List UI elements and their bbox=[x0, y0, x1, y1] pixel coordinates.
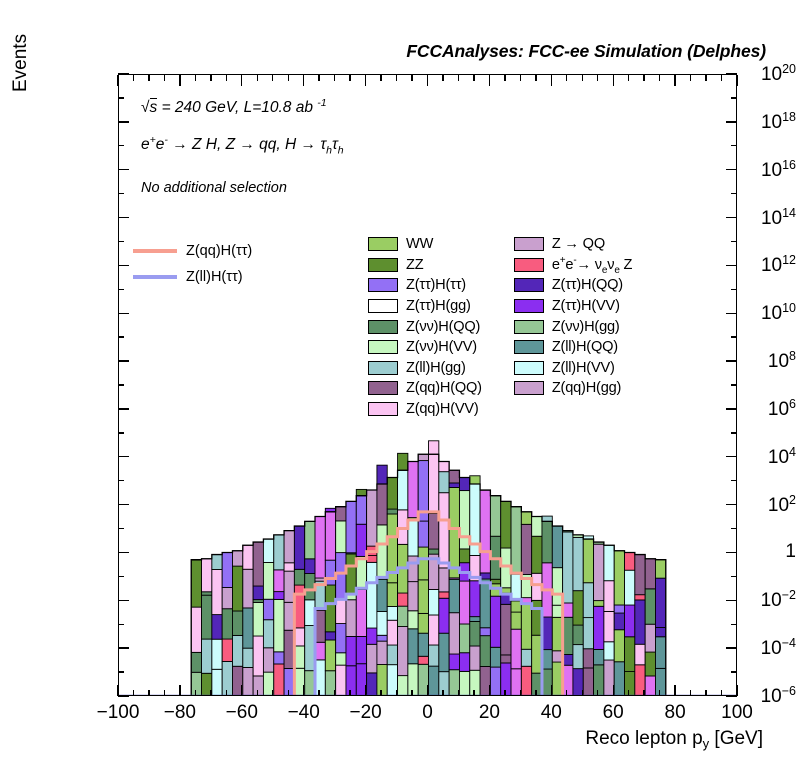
histogram-bin-segment bbox=[232, 611, 242, 635]
x-axis-title-unit: [GeV] bbox=[709, 728, 763, 749]
histogram-bin-segment bbox=[480, 573, 490, 579]
histogram-bin-segment bbox=[635, 595, 645, 600]
y-tick-label: 10−4 bbox=[686, 636, 796, 660]
histogram-bin-segment bbox=[191, 652, 201, 672]
main-legend: WWZZZ(ττ)H(ττ)Z(ττ)H(gg)Z(νν)H(QQ)Z(νν)H… bbox=[368, 234, 632, 419]
histogram-bin-segment bbox=[253, 602, 263, 636]
legend-label: Z(ττ)H(gg) bbox=[406, 298, 471, 314]
x-major-tick bbox=[241, 685, 242, 696]
histogram-bin-segment bbox=[429, 549, 439, 554]
histogram-bin-segment bbox=[377, 641, 387, 664]
y-major-tick bbox=[118, 121, 129, 122]
x-minor-tick bbox=[473, 690, 474, 696]
histogram-bin-segment bbox=[356, 590, 366, 637]
histogram-bin-segment bbox=[222, 661, 232, 696]
legend-right-row: Z(ll)H(QQ) bbox=[514, 337, 632, 358]
x-axis-title: Reco lepton py [GeV] bbox=[585, 728, 763, 751]
plot-header-title: FCCAnalyses: FCC-ee Simulation (Delphes) bbox=[406, 41, 766, 62]
legend-swatch bbox=[368, 320, 398, 334]
histogram-bin-segment bbox=[449, 654, 459, 670]
histogram-bin-segment bbox=[284, 602, 294, 630]
histogram-bin-segment bbox=[614, 630, 624, 662]
histogram-bin-segment bbox=[294, 569, 304, 585]
histogram-bin-segment bbox=[336, 653, 346, 665]
legend-label: Z(ττ)H(ττ) bbox=[406, 277, 466, 293]
x-minor-tick bbox=[643, 75, 644, 81]
histogram-bin-segment bbox=[429, 454, 439, 513]
histogram-bin-segment bbox=[356, 489, 366, 495]
x-minor-tick bbox=[133, 690, 134, 696]
histogram-bin-segment bbox=[377, 635, 387, 641]
histogram-bin-segment bbox=[521, 604, 531, 649]
x-minor-tick bbox=[164, 75, 165, 81]
y-tick-label: 1014 bbox=[686, 205, 796, 229]
histogram-bin-segment bbox=[429, 645, 439, 666]
y-minor-tick bbox=[731, 671, 737, 672]
histogram-bin-segment bbox=[243, 667, 253, 696]
x-minor-tick bbox=[195, 75, 196, 81]
y-tick-label: 102 bbox=[686, 492, 796, 516]
x-minor-tick bbox=[318, 690, 319, 696]
x-minor-tick bbox=[396, 690, 397, 696]
y-minor-tick bbox=[731, 241, 737, 242]
legend-swatch bbox=[514, 258, 544, 272]
legend-left-row: Z(ττ)H(gg) bbox=[368, 296, 482, 317]
histogram-bin-segment bbox=[645, 559, 655, 589]
histogram-bin-segment bbox=[212, 639, 222, 669]
x-minor-tick bbox=[582, 690, 583, 696]
histogram-bin-segment bbox=[459, 624, 469, 653]
y-minor-tick bbox=[118, 193, 124, 194]
histogram-bin-segment bbox=[418, 454, 428, 460]
x-minor-tick bbox=[566, 690, 567, 696]
x-major-tick bbox=[117, 75, 118, 86]
histogram-bin-segment bbox=[336, 600, 346, 624]
histogram-bin-segment bbox=[284, 630, 294, 668]
x-major-tick bbox=[427, 75, 428, 86]
histogram-bin-segment bbox=[367, 556, 377, 563]
y-minor-tick bbox=[118, 145, 124, 146]
x-major-tick bbox=[179, 75, 180, 86]
histogram-bin-segment bbox=[325, 512, 335, 560]
histogram-bin-segment bbox=[614, 605, 624, 613]
histogram-bin-segment bbox=[449, 487, 459, 577]
histogram-bin-segment bbox=[635, 644, 645, 665]
histogram-bin-segment bbox=[439, 672, 449, 696]
histogram-bin-segment bbox=[449, 470, 459, 483]
histogram-bin-segment bbox=[253, 586, 263, 600]
x-minor-tick bbox=[164, 690, 165, 696]
histogram-bin-segment bbox=[635, 555, 645, 595]
histogram-bin-segment bbox=[459, 671, 469, 696]
histogram-bin-segment bbox=[625, 605, 635, 637]
x-tick-label: 80 bbox=[665, 702, 686, 724]
legend-left-row: Z(νν)H(VV) bbox=[368, 337, 482, 358]
histogram-bin-segment bbox=[356, 636, 366, 663]
x-minor-tick bbox=[288, 690, 289, 696]
histogram-bin-segment bbox=[377, 665, 387, 696]
histogram-bin-segment bbox=[325, 632, 335, 640]
histogram-bin-segment bbox=[511, 612, 521, 629]
histogram-bin-segment bbox=[315, 610, 325, 642]
legend-swatch bbox=[514, 320, 544, 334]
histogram-bin-segment bbox=[501, 655, 511, 663]
legend-right-row: Z(ττ)H(VV) bbox=[514, 296, 632, 317]
histogram-bin-segment bbox=[346, 501, 356, 552]
y-major-tick bbox=[118, 552, 129, 553]
histogram-bin-segment bbox=[305, 574, 315, 600]
y-minor-tick bbox=[731, 528, 737, 529]
legend-label: ZZ bbox=[406, 257, 423, 273]
legend-label: WW bbox=[406, 236, 433, 252]
x-minor-tick bbox=[458, 75, 459, 81]
histogram-bin-segment bbox=[429, 615, 439, 645]
histogram-bin-segment bbox=[263, 599, 273, 619]
histogram-bin-segment bbox=[202, 592, 212, 595]
x-minor-tick bbox=[442, 75, 443, 81]
x-minor-tick bbox=[566, 75, 567, 81]
y-tick-label: 1010 bbox=[686, 301, 796, 325]
legend-column-right: Z → QQe+e-→ νeνe ZZ(ττ)H(QQ)Z(ττ)H(VV)Z(… bbox=[514, 234, 632, 419]
histogram-bin-segment bbox=[480, 628, 490, 636]
y-minor-tick bbox=[731, 432, 737, 433]
y-tick-label: 1020 bbox=[686, 62, 796, 86]
y-tick-label: 1018 bbox=[686, 110, 796, 134]
histogram-bin-segment bbox=[222, 609, 232, 639]
histogram-bin-segment bbox=[511, 629, 521, 669]
histogram-bin-segment bbox=[232, 551, 242, 566]
signal-legend-row: Z(qq)H(ττ) bbox=[133, 238, 252, 264]
x-tick-label: 20 bbox=[479, 702, 500, 724]
histogram-bin-segment bbox=[480, 490, 490, 573]
legend-label: Z(ττ)H(VV) bbox=[552, 298, 620, 314]
x-minor-tick bbox=[349, 690, 350, 696]
histogram-bin-segment bbox=[655, 560, 665, 578]
legend-label: Z(ττ)H(QQ) bbox=[552, 277, 623, 293]
histogram-bin-segment bbox=[459, 581, 469, 624]
x-tick-label: 100 bbox=[721, 702, 753, 724]
annotation-energy-lumi: √s = 240 GeV, L=10.8 ab -1 bbox=[141, 97, 327, 117]
histogram-bin-segment bbox=[429, 589, 439, 614]
histogram-bin-segment bbox=[284, 563, 294, 571]
signal-legend-row: Z(ll)H(ττ) bbox=[133, 264, 252, 290]
histogram-bin-segment bbox=[490, 584, 500, 596]
histogram-bin-segment bbox=[305, 559, 315, 574]
x-minor-tick bbox=[628, 75, 629, 81]
histogram-bin-segment bbox=[625, 552, 635, 570]
histogram-bin-segment bbox=[294, 646, 304, 668]
histogram-bin-segment bbox=[253, 542, 263, 586]
histogram-bin-segment bbox=[274, 664, 284, 696]
x-tick-label: −60 bbox=[226, 702, 258, 724]
y-major-tick bbox=[118, 647, 129, 648]
histogram-bin-segment bbox=[604, 642, 614, 660]
histogram-bin-segment bbox=[645, 589, 655, 624]
histogram-bin-segment bbox=[202, 559, 212, 592]
histogram-bin-segment bbox=[655, 627, 665, 636]
x-minor-tick bbox=[272, 75, 273, 81]
histogram-bin-segment bbox=[191, 672, 201, 696]
histogram-bin-segment bbox=[655, 668, 665, 696]
x-tick-label: −20 bbox=[349, 702, 381, 724]
histogram-bin-segment bbox=[542, 521, 552, 562]
x-minor-tick bbox=[210, 690, 211, 696]
annotation-process: e+e- → Z H, Z → qq, H → τhτh bbox=[141, 134, 344, 156]
histogram-bin-segment bbox=[532, 517, 542, 537]
y-major-tick bbox=[118, 217, 129, 218]
histogram-bin-segment bbox=[263, 562, 273, 599]
legend-left-row: WW bbox=[368, 234, 482, 255]
histogram-bin-segment bbox=[521, 666, 531, 696]
y-minor-tick bbox=[118, 480, 124, 481]
legend-left-row: Z(νν)H(QQ) bbox=[368, 316, 482, 337]
legend-swatch bbox=[368, 361, 398, 375]
x-minor-tick bbox=[628, 690, 629, 696]
histogram-bin-segment bbox=[594, 544, 604, 600]
x-minor-tick bbox=[334, 75, 335, 81]
histogram-bin-segment bbox=[212, 669, 222, 696]
legend-right-row: Z(ll)H(VV) bbox=[514, 358, 632, 379]
signal-legend-line bbox=[133, 275, 177, 278]
histogram-bin-segment bbox=[274, 570, 284, 592]
x-tick-label: 40 bbox=[541, 702, 562, 724]
histogram-bin-segment bbox=[243, 545, 253, 569]
x-minor-tick bbox=[210, 75, 211, 81]
histogram-bin-segment bbox=[429, 666, 439, 696]
histogram-bin-segment bbox=[532, 536, 542, 573]
histogram-bin-segment bbox=[305, 671, 315, 696]
histogram-bin-segment bbox=[521, 649, 531, 666]
histogram-bin-segment bbox=[398, 676, 408, 696]
histogram-bin-segment bbox=[408, 461, 418, 517]
histogram-bin-segment bbox=[274, 592, 284, 600]
x-major-tick bbox=[489, 75, 490, 86]
histogram-bin-segment bbox=[367, 673, 377, 696]
histogram-bin-segment bbox=[594, 601, 604, 607]
histogram-bin-segment bbox=[490, 667, 500, 696]
x-major-tick bbox=[489, 685, 490, 696]
y-major-tick bbox=[118, 456, 129, 457]
histogram-bin-segment bbox=[398, 627, 408, 676]
histogram-bin-segment bbox=[336, 507, 346, 521]
histogram-bin-segment bbox=[284, 531, 294, 563]
histogram-bin-segment bbox=[387, 606, 397, 620]
y-minor-tick bbox=[118, 97, 124, 98]
y-minor-tick bbox=[118, 576, 124, 577]
legend-right-row: Z(qq)H(gg) bbox=[514, 378, 632, 399]
histogram-bin-segment bbox=[439, 598, 449, 633]
histogram-bin-segment bbox=[490, 596, 500, 647]
y-minor-tick bbox=[118, 624, 124, 625]
histogram-bin-segment bbox=[336, 521, 346, 553]
legend-left-row: Z(qq)H(QQ) bbox=[368, 378, 482, 399]
x-minor-tick bbox=[272, 690, 273, 696]
histogram-bin-segment bbox=[552, 568, 562, 606]
x-minor-tick bbox=[349, 75, 350, 81]
y-minor-tick bbox=[731, 145, 737, 146]
histogram-bin-segment bbox=[614, 551, 624, 605]
x-minor-tick bbox=[226, 75, 227, 81]
histogram-bin-segment bbox=[336, 665, 346, 696]
histogram-bin-segment bbox=[480, 579, 490, 628]
x-major-tick bbox=[365, 685, 366, 696]
histogram-bin-segment bbox=[408, 582, 418, 611]
histogram-bin-segment bbox=[284, 571, 294, 602]
histogram-bin-segment bbox=[439, 493, 449, 568]
histogram-bin-segment bbox=[263, 620, 273, 648]
legend-label: Z(ll)H(VV) bbox=[552, 360, 615, 376]
histogram-bin-segment bbox=[377, 525, 387, 579]
histogram-bin-segment bbox=[542, 617, 552, 650]
x-minor-tick bbox=[411, 75, 412, 81]
y-minor-tick bbox=[731, 576, 737, 577]
x-major-tick bbox=[117, 685, 118, 696]
histogram-bin-segment bbox=[377, 612, 387, 636]
histogram-bin-segment bbox=[243, 608, 253, 648]
y-minor-tick bbox=[731, 624, 737, 625]
histogram-bin-segment bbox=[470, 581, 480, 617]
histogram-bin-segment bbox=[470, 476, 480, 484]
histogram-bin-segment bbox=[418, 633, 428, 656]
histogram-bin-segment bbox=[470, 617, 480, 622]
histogram-bin-segment bbox=[542, 650, 552, 669]
legend-swatch bbox=[514, 381, 544, 395]
x-minor-tick bbox=[411, 690, 412, 696]
histogram-bin-segment bbox=[294, 585, 304, 628]
histogram-bin-segment bbox=[418, 547, 428, 580]
histogram-bin-segment bbox=[202, 595, 212, 639]
legend-label: Z(ll)H(gg) bbox=[406, 360, 466, 376]
y-minor-tick bbox=[118, 671, 124, 672]
x-major-tick bbox=[427, 685, 428, 696]
histogram-bin-segment bbox=[263, 648, 273, 672]
histogram-bin-segment bbox=[346, 600, 356, 637]
histogram-bin-segment bbox=[614, 662, 624, 696]
histogram-bin-segment bbox=[439, 472, 449, 493]
histogram-bin-segment bbox=[645, 624, 655, 652]
y-major-tick bbox=[118, 600, 129, 601]
y-minor-tick bbox=[731, 480, 737, 481]
histogram-bin-segment bbox=[315, 578, 325, 581]
histogram-bin-segment bbox=[408, 519, 418, 556]
histogram-bin-segment bbox=[222, 552, 232, 587]
histogram-bin-segment bbox=[645, 652, 655, 676]
signal-legend-label: Z(ll)H(ττ) bbox=[186, 269, 243, 285]
x-minor-tick bbox=[597, 75, 598, 81]
histogram-bin-segment bbox=[263, 539, 273, 562]
histogram-bin-segment bbox=[470, 621, 480, 646]
histogram-bin-segment bbox=[222, 639, 232, 661]
legend-swatch bbox=[368, 402, 398, 416]
legend-swatch bbox=[368, 340, 398, 354]
x-minor-tick bbox=[334, 690, 335, 696]
histogram-bin-segment bbox=[573, 591, 583, 625]
legend-label: Z(qq)H(gg) bbox=[552, 380, 621, 396]
histogram-bin-segment bbox=[501, 663, 511, 696]
histogram-bin-segment bbox=[356, 524, 366, 556]
histogram-bin-segment bbox=[305, 626, 315, 671]
y-major-tick bbox=[118, 695, 129, 696]
histogram-bin-segment bbox=[367, 628, 377, 644]
histogram-bin-segment bbox=[387, 583, 397, 607]
x-minor-tick bbox=[535, 690, 536, 696]
legend-label: Z(νν)H(QQ) bbox=[406, 319, 480, 335]
y-minor-tick bbox=[731, 97, 737, 98]
histogram-bin-segment bbox=[367, 562, 377, 628]
histogram-bin-segment bbox=[377, 465, 387, 484]
histogram-bin-segment bbox=[367, 490, 377, 546]
histogram-bin-segment bbox=[418, 656, 428, 664]
legend-column-left: WWZZZ(ττ)H(ττ)Z(ττ)H(gg)Z(νν)H(QQ)Z(νν)H… bbox=[368, 234, 482, 419]
legend-left-row: Z(ll)H(gg) bbox=[368, 358, 482, 379]
x-minor-tick bbox=[473, 75, 474, 81]
histogram-bin-segment bbox=[418, 521, 428, 547]
x-tick-label: −100 bbox=[97, 702, 140, 724]
histogram-bin-segment bbox=[480, 636, 490, 667]
histogram-bin-segment bbox=[377, 579, 387, 611]
histogram-bin-segment bbox=[655, 578, 665, 627]
histogram-bin-segment bbox=[521, 524, 531, 574]
histogram-bin-segment bbox=[655, 637, 665, 669]
y-major-tick bbox=[118, 265, 129, 266]
x-tick-label: 0 bbox=[422, 702, 433, 724]
x-minor-tick bbox=[288, 75, 289, 81]
histogram-bin-segment bbox=[552, 617, 562, 650]
x-minor-tick bbox=[504, 690, 505, 696]
x-minor-tick bbox=[380, 75, 381, 81]
histogram-bin-segment bbox=[532, 573, 542, 600]
x-minor-tick bbox=[458, 690, 459, 696]
histogram-bin-segment bbox=[604, 581, 614, 612]
x-minor-tick bbox=[257, 75, 258, 81]
y-minor-tick bbox=[731, 193, 737, 194]
x-minor-tick bbox=[582, 75, 583, 81]
histogram-bin-segment bbox=[625, 570, 635, 605]
signal-legend-line bbox=[133, 249, 177, 252]
histogram-bin-segment bbox=[594, 649, 604, 664]
x-minor-tick bbox=[148, 690, 149, 696]
legend-swatch bbox=[514, 237, 544, 251]
histogram-bin-segment bbox=[573, 645, 583, 669]
x-minor-tick bbox=[226, 690, 227, 696]
y-minor-tick bbox=[731, 336, 737, 337]
histogram-bin-segment bbox=[449, 483, 459, 488]
legend-left-row: Z(qq)H(VV) bbox=[368, 399, 482, 420]
histogram-bin-segment bbox=[501, 588, 511, 593]
histogram-bin-segment bbox=[490, 579, 500, 584]
x-major-tick bbox=[241, 75, 242, 86]
x-minor-tick bbox=[659, 690, 660, 696]
histogram-bin-segment bbox=[274, 599, 284, 651]
histogram-bin-segment bbox=[325, 560, 335, 585]
histogram-bin-segment bbox=[398, 593, 408, 606]
histogram-bin-segment bbox=[563, 603, 573, 617]
histogram-bin-segment bbox=[367, 644, 377, 673]
histogram-bin-segment bbox=[346, 554, 356, 595]
y-major-tick bbox=[118, 408, 129, 409]
histogram-bin-segment bbox=[573, 537, 583, 590]
histogram-bin-segment bbox=[418, 613, 428, 633]
histogram-bin-segment bbox=[532, 600, 542, 635]
x-tick-label: 60 bbox=[603, 702, 624, 724]
legend-swatch bbox=[514, 299, 544, 313]
histogram-bin-segment bbox=[573, 625, 583, 645]
histogram-bin-segment bbox=[490, 496, 500, 537]
legend-swatch bbox=[368, 258, 398, 272]
histogram-bin-segment bbox=[439, 568, 449, 592]
histogram-bin-segment bbox=[356, 556, 366, 589]
histogram-bin-segment bbox=[191, 560, 201, 607]
